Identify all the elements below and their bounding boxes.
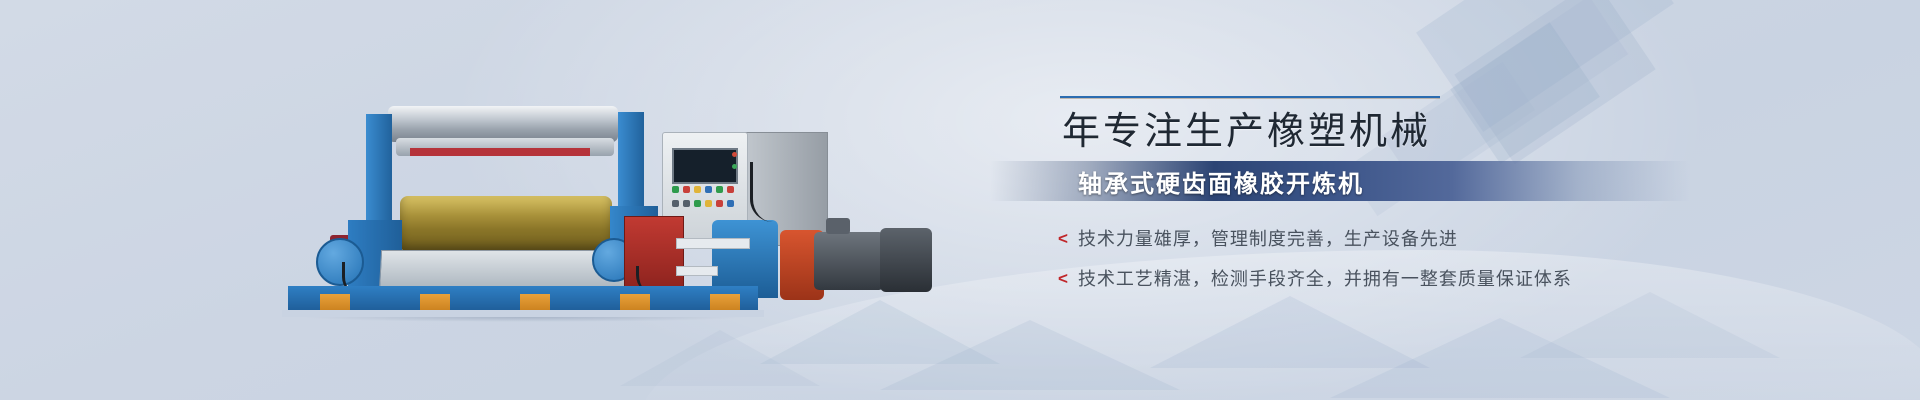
machine-button-4 — [705, 186, 712, 193]
machine-button-11 — [716, 200, 723, 207]
chevron-left-icon: < — [1058, 230, 1068, 247]
machine-left-upright — [366, 114, 392, 232]
bg-triangle-4 — [1330, 318, 1670, 398]
machine-pipe-1 — [676, 238, 750, 249]
machine-button-5 — [716, 186, 723, 193]
banner-content: 年专注生产橡塑机械 轴承式硬齿面橡胶开炼机 < 技术力量雄厚，管理制度完善，生产… — [1040, 96, 1740, 305]
machine-mid-upright — [618, 112, 644, 216]
bullet-item-2: < 技术工艺精湛，检测手段齐全，并拥有一整套质量保证体系 — [1058, 265, 1740, 291]
bg-triangle-1 — [760, 300, 1000, 364]
machine-main-roller — [400, 196, 612, 252]
machine-button-3 — [694, 186, 701, 193]
machine-button-6 — [727, 186, 734, 193]
machine-button-9 — [694, 200, 701, 207]
machine-display-screen — [672, 148, 738, 184]
bullet-text-2: 技术工艺精湛，检测手段齐全，并拥有一整套质量保证体系 — [1078, 265, 1572, 291]
machine-button-1 — [672, 186, 679, 193]
machine-motor — [814, 232, 884, 290]
machine-button-7 — [672, 200, 679, 207]
machine-top-roller — [388, 106, 618, 142]
bg-triangle-2 — [880, 320, 1180, 390]
machine-red-bar — [410, 148, 590, 156]
machine-button-2 — [683, 186, 690, 193]
bg-triangle-5 — [620, 330, 820, 386]
product-image-rubber-open-mixing-mill — [280, 90, 780, 320]
hero-banner: 年专注生产橡塑机械 轴承式硬齿面橡胶开炼机 < 技术力量雄厚，管理制度完善，生产… — [0, 0, 1920, 400]
chevron-left-icon: < — [1058, 270, 1068, 287]
machine-motor-rear — [880, 228, 932, 292]
banner-subtitle: 轴承式硬齿面橡胶开炼机 — [1078, 164, 1364, 199]
banner-subtitle-bar: 轴承式硬齿面橡胶开炼机 — [990, 161, 1690, 201]
machine-pipe-2 — [676, 266, 718, 276]
machine-motor-terminal-box — [826, 218, 850, 234]
machine-base-shadow — [282, 310, 764, 317]
banner-headline: 年专注生产橡塑机械 — [1062, 107, 1740, 157]
banner-bullet-list: < 技术力量雄厚，管理制度完善，生产设备先进 < 技术工艺精湛，检测手段齐全，并… — [1058, 225, 1740, 291]
machine-button-8 — [683, 200, 690, 207]
bg-triangle-3 — [1150, 296, 1430, 368]
headline-divider-bottom — [1060, 98, 1440, 99]
machine-button-12 — [727, 200, 734, 207]
bullet-text-1: 技术力量雄厚，管理制度完善，生产设备先进 — [1078, 225, 1458, 251]
machine-indicator-red — [732, 152, 737, 157]
bullet-item-1: < 技术力量雄厚，管理制度完善，生产设备先进 — [1058, 225, 1740, 251]
machine-indicator-green — [732, 164, 737, 169]
machine-button-10 — [705, 200, 712, 207]
